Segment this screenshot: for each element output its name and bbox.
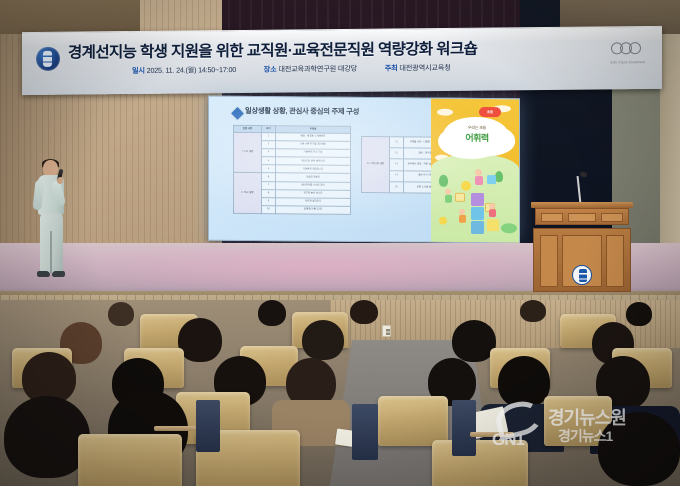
table-index-cell: 14 [390,170,404,181]
presenter-hand [57,177,63,184]
table-group-cell: I. 기초 생활 [234,132,262,173]
seat-base [352,404,378,460]
table-index-cell: 1 [262,133,276,141]
projection-screen: 일상생활 상황, 관심사 중심의 주제 구성 단원 구분회기주제명I. 기초 생… [208,96,520,244]
table-index-cell: 4 [262,157,276,165]
table-index-cell: 12 [390,148,404,159]
table-index-cell: 9 [262,197,276,205]
table-index-cell: 3 [262,149,276,157]
banner-field-value-venue: 대전교육과학연구원 대강당 [278,64,357,74]
table-index-cell: 13 [390,159,404,170]
banner-field-value-datetime: 2025. 11. 24.(월) 14:50~17:00 [147,65,236,75]
presentation-slide: 일상생활 상황, 관심사 중심의 주제 구성 단원 구분회기주제명I. 기초 생… [209,97,519,243]
attendee-head [520,300,546,322]
banner-field-label-host: 주최 [385,63,398,72]
audience-area [0,300,680,486]
cloud-deco-1 [437,109,453,116]
wall-outlet-icon [382,325,391,337]
table-index-cell: 7 [262,181,276,189]
lectern-upper [535,208,629,225]
lectern-panel-2 [568,213,596,222]
table-index-cell: 15 [390,181,404,192]
table-index-cell: 5 [262,165,276,173]
flower-deco [439,217,447,225]
kid-illustration-2 [445,189,452,203]
eje-logo-icon: Edu Class Dreamers [608,40,648,74]
banner-field-label-datetime: 일시 [132,66,145,75]
block-blue2 [471,221,484,234]
table-index-cell: 2 [262,141,276,149]
banner-title: 경계선지능 학생 지원을 위한 교직원·교육전문직원 역량강화 워크숍 [68,35,608,62]
auditorium-seat [432,440,528,486]
eje-logo-caption: Edu Class Dreamers [608,60,648,64]
ceiling-left [0,0,140,34]
attendee-head [350,300,378,324]
education-office-emblem-icon [36,47,60,71]
bush-deco [501,223,517,233]
block-yellow [487,219,499,231]
attendee-head [598,412,680,486]
kid-illustration-3 [459,209,466,223]
book-cover-illustration: 초등 우리는 초등 어휘력 [431,99,519,244]
seat-base [452,400,476,456]
lectern-lower [533,228,631,292]
attendee-head [302,320,344,360]
table-group-cell: II. 학교 생활 [234,173,262,214]
book-title-line2: 어휘력 [447,131,507,145]
seat-armrest [470,432,514,437]
table-index-cell: 6 [262,173,276,181]
banner-subtitle: 일시 2025. 11. 24.(월) 14:50~17:00 장소 대전교육과… [132,62,602,77]
tree-deco-2 [495,171,503,182]
event-banner: 경계선지능 학생 지원을 위한 교직원·교육전문직원 역량강화 워크숍 일시 2… [22,26,662,95]
kid-illustration-4 [489,203,496,217]
seat-armrest [154,426,196,431]
photograph: 경계선지능 학생 지원을 위한 교직원·교육전문직원 역량강화 워크숍 일시 2… [0,0,680,486]
card-deco-3 [487,175,496,184]
table-group-cell: III. 지역사회 생활 [362,136,390,192]
seat-base [196,400,220,452]
block-blue [471,207,484,220]
eje-rings-icon [611,40,645,58]
lectern-panel-3 [601,213,623,222]
table-topic-cell: 함께하다 좋다고요 [276,206,351,215]
ball-deco [461,181,471,191]
lectern-lower-panel-3 [606,235,624,287]
table-index-cell: 8 [262,189,276,197]
attendee-head [108,302,134,326]
presenter [32,160,74,290]
presenter-legs [40,213,63,273]
attendee-head [498,356,550,408]
slide-title: 일상생활 상황, 관심사 중심의 주제 구성 [245,106,359,117]
auditorium-seat [378,396,448,446]
kid-illustration-1 [475,169,483,185]
lectern [534,202,630,294]
slide-diamond-bullet-icon [231,107,244,120]
block-purple [471,193,484,206]
presenter-shoe-left [37,271,50,277]
banner-field-label-venue: 장소 [264,65,277,74]
lectern-panel-1 [541,213,563,222]
banner-field-value-host: 대전광역시교육청 [399,63,450,72]
table-index-cell: 10 [262,205,276,213]
attendee-head [178,318,222,362]
slide-table-left: 단원 구분회기주제명I. 기초 생활1별명 · 별칭을 소개해봐요2기분 나쁜 … [233,125,351,215]
stage-light-pool [40,248,600,296]
presenter-shoe-right [52,271,65,277]
table-index-cell: 11 [390,137,404,148]
lectern-lower-panel-1 [540,235,558,287]
lectern-emblem-icon [572,265,592,285]
tree-deco-1 [439,175,448,187]
attendee-head [626,302,652,326]
auditorium-seat [78,434,182,486]
card-deco-1 [455,193,465,202]
attendee-head [258,300,286,326]
book-badge: 초등 [479,107,501,117]
